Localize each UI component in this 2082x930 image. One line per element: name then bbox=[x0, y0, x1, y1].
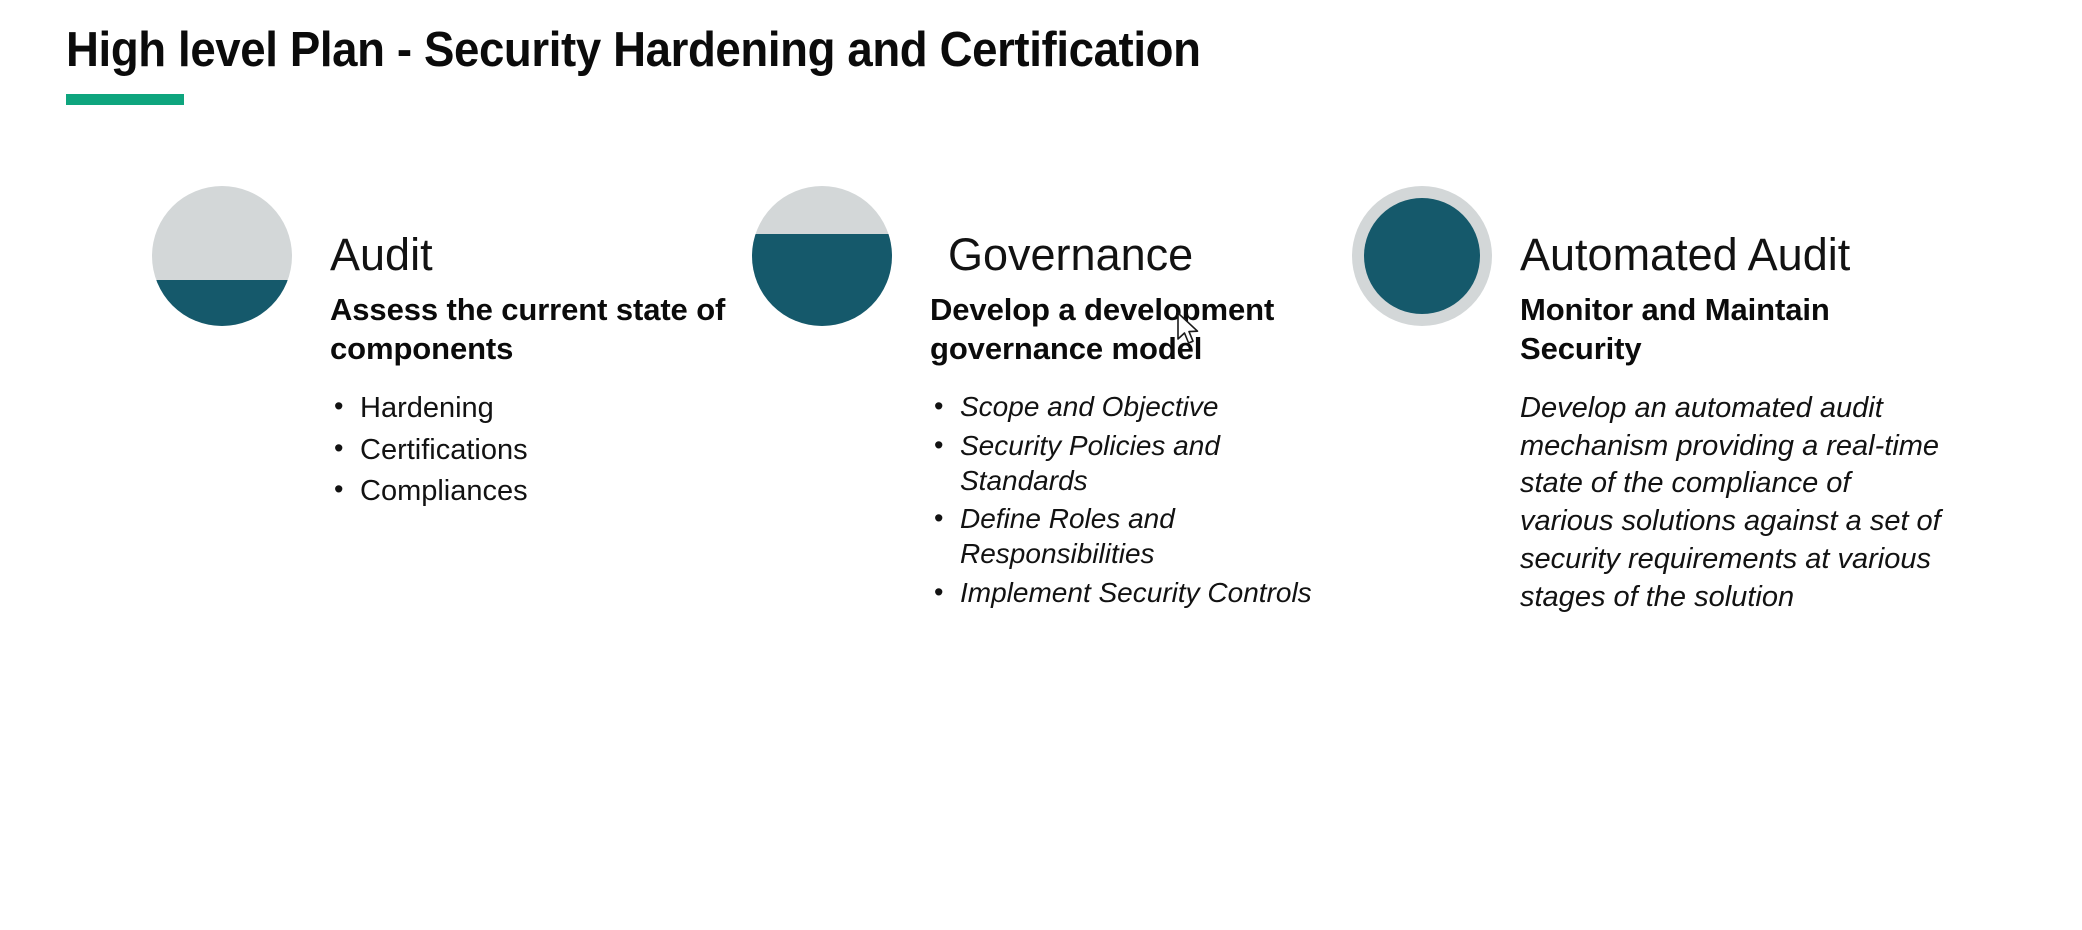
body-paragraph: Develop an automated audit mechanism pro… bbox=[1520, 390, 1950, 616]
title-accent-rule bbox=[66, 94, 184, 105]
list-item: Hardening bbox=[330, 390, 750, 427]
bullet-list: Hardening Certifications Compliances bbox=[330, 390, 750, 510]
circle-progress-two-thirds-icon bbox=[752, 186, 892, 326]
circle-progress-one-third-icon bbox=[152, 186, 292, 326]
title-block: High level Plan - Security Hardening and… bbox=[66, 22, 1286, 105]
column-automated-audit: Automated Audit Monitor and Maintain Sec… bbox=[1352, 186, 1952, 296]
column-governance: Governance Develop a development governa… bbox=[752, 186, 1312, 296]
list-item: Security Policies and Standards bbox=[930, 429, 1330, 498]
column-body: Assess the current state of components H… bbox=[330, 290, 750, 515]
column-header: Audit bbox=[152, 186, 712, 296]
columns-container: Audit Assess the current state of compon… bbox=[0, 186, 2082, 806]
column-title: Governance bbox=[948, 230, 1193, 280]
bullet-list: Scope and Objective Security Policies an… bbox=[930, 390, 1330, 610]
column-body: Develop a development governance model S… bbox=[930, 290, 1330, 614]
list-item: Implement Security Controls bbox=[930, 576, 1330, 611]
column-audit: Audit Assess the current state of compon… bbox=[152, 186, 712, 296]
list-item: Scope and Objective bbox=[930, 390, 1330, 425]
list-item: Define Roles and Responsibilities bbox=[930, 502, 1330, 571]
column-body: Monitor and Maintain Security Develop an… bbox=[1520, 290, 1950, 616]
column-header: Automated Audit bbox=[1352, 186, 1952, 296]
circle-progress-full-icon bbox=[1352, 186, 1492, 326]
slide-canvas: High level Plan - Security Hardening and… bbox=[0, 0, 2082, 930]
column-title: Audit bbox=[330, 230, 433, 280]
body-heading: Develop a development governance model bbox=[930, 290, 1330, 368]
column-title: Automated Audit bbox=[1520, 230, 1850, 280]
page-title: High level Plan - Security Hardening and… bbox=[66, 22, 1201, 78]
body-heading: Assess the current state of components bbox=[330, 290, 750, 368]
column-header: Governance bbox=[752, 186, 1312, 296]
body-heading: Monitor and Maintain Security bbox=[1520, 290, 1950, 368]
list-item: Certifications bbox=[330, 432, 750, 469]
list-item: Compliances bbox=[330, 473, 750, 510]
